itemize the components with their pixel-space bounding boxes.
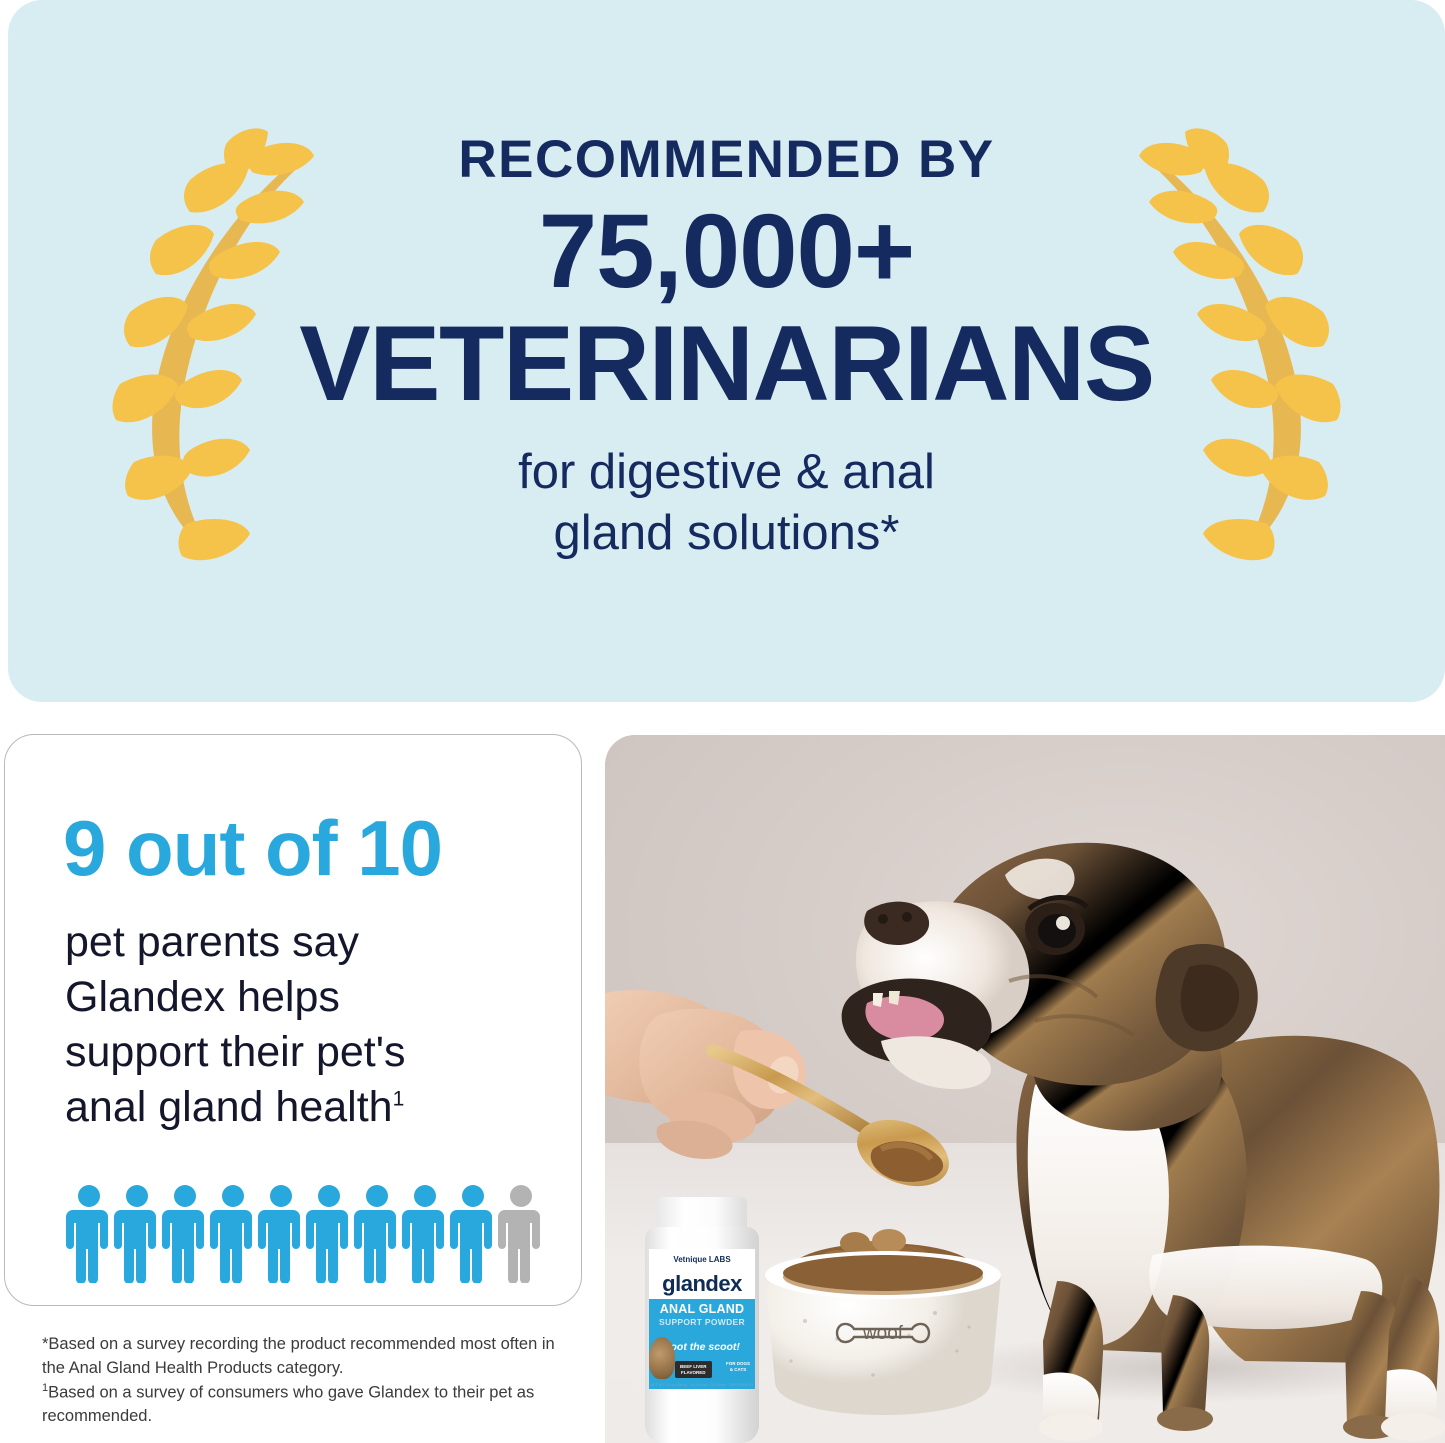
bottle-species-line2: & CATS	[730, 1367, 746, 1372]
person-icon-muted	[497, 1183, 545, 1283]
product-infographic-page: RECOMMENDED BY 75,000+ VETERINARIANS for…	[0, 0, 1445, 1443]
bottle-flavor-line2: FLAVORED	[681, 1370, 705, 1375]
dog-bowl: woof	[765, 1229, 1001, 1415]
bottle-label: Vetnique LABS glandex ANAL GLAND SUPPORT…	[649, 1249, 755, 1389]
person-icon	[161, 1183, 209, 1283]
person-icon	[401, 1183, 449, 1283]
bottle-product-name: glandex	[649, 1271, 755, 1297]
banner-line-veterinarians: VETERINARIANS	[297, 311, 1157, 416]
person-icon	[353, 1183, 401, 1283]
banner-line-recommended-by: RECOMMENDED BY	[297, 132, 1157, 188]
footnote-one-text: Based on a survey of consumers who gave …	[42, 1383, 534, 1425]
banner-line-count: 75,000+	[297, 193, 1157, 311]
stat-headline: 9 out of 10	[63, 809, 442, 887]
footnote-asterisk: *Based on a survey recording the product…	[42, 1333, 582, 1381]
stat-body-text: pet parents say Glandex helps support th…	[65, 915, 565, 1135]
bottle-species-badge: FOR DOGS & CATS	[726, 1361, 750, 1372]
banner-headline-block: RECOMMENDED BY 75,000+ VETERINARIANS for…	[297, 132, 1157, 565]
bottle-subtitle-line2: SUPPORT POWDER	[649, 1317, 755, 1327]
bottle-subtitle-line1: ANAL GLAND	[649, 1302, 755, 1316]
person-icon	[305, 1183, 353, 1283]
stat-body-line-4: anal gland health1	[65, 1080, 565, 1135]
glandex-bottle: Vetnique LABS glandex ANAL GLAND SUPPORT…	[641, 1197, 763, 1443]
person-icon	[113, 1183, 161, 1283]
recommended-by-banner: RECOMMENDED BY 75,000+ VETERINARIANS for…	[8, 0, 1445, 702]
bowl-engraving-text: woof	[862, 1323, 904, 1344]
person-icon	[257, 1183, 305, 1283]
person-icon	[65, 1183, 113, 1283]
product-lifestyle-photo: woof Vetnique LABS glandex ANAL GLAND SU…	[605, 735, 1445, 1443]
person-icon	[209, 1183, 257, 1283]
footnotes-block: *Based on a survey recording the product…	[42, 1333, 582, 1429]
bottle-flavor-line1: BEEF LIVER	[680, 1364, 707, 1369]
stat-body-footnote-marker: 1	[393, 1088, 405, 1111]
stat-body-line-4-text: anal gland health	[65, 1083, 393, 1131]
bottle-flavor-badge: BEEF LIVER FLAVORED	[675, 1361, 712, 1378]
bottle-species-line1: FOR DOGS	[726, 1361, 750, 1366]
bottle-brand: Vetnique LABS	[649, 1255, 755, 1264]
bottle-cap	[657, 1197, 747, 1231]
bottle-fine-print: NET WT 5.5 oz (156 g) · 44 Scoops / 30 D…	[649, 1383, 755, 1387]
bottle-dog-photo	[649, 1337, 675, 1379]
stat-body-line-3: support their pet's	[65, 1025, 565, 1080]
banner-subtext-line1: for digestive & anal	[297, 442, 1157, 503]
banner-subtext-line2: gland solutions*	[297, 503, 1157, 564]
stat-body-line-1: pet parents say	[65, 915, 565, 970]
banner-subtext: for digestive & anal gland solutions*	[297, 442, 1157, 565]
stat-body-line-2: Glandex helps	[65, 970, 565, 1025]
stat-card: 9 out of 10 pet parents say Glandex help…	[4, 734, 582, 1306]
person-icon	[449, 1183, 497, 1283]
footnote-one: 1Based on a survey of consumers who gave…	[42, 1381, 582, 1429]
pictogram-people-row	[65, 1183, 545, 1283]
